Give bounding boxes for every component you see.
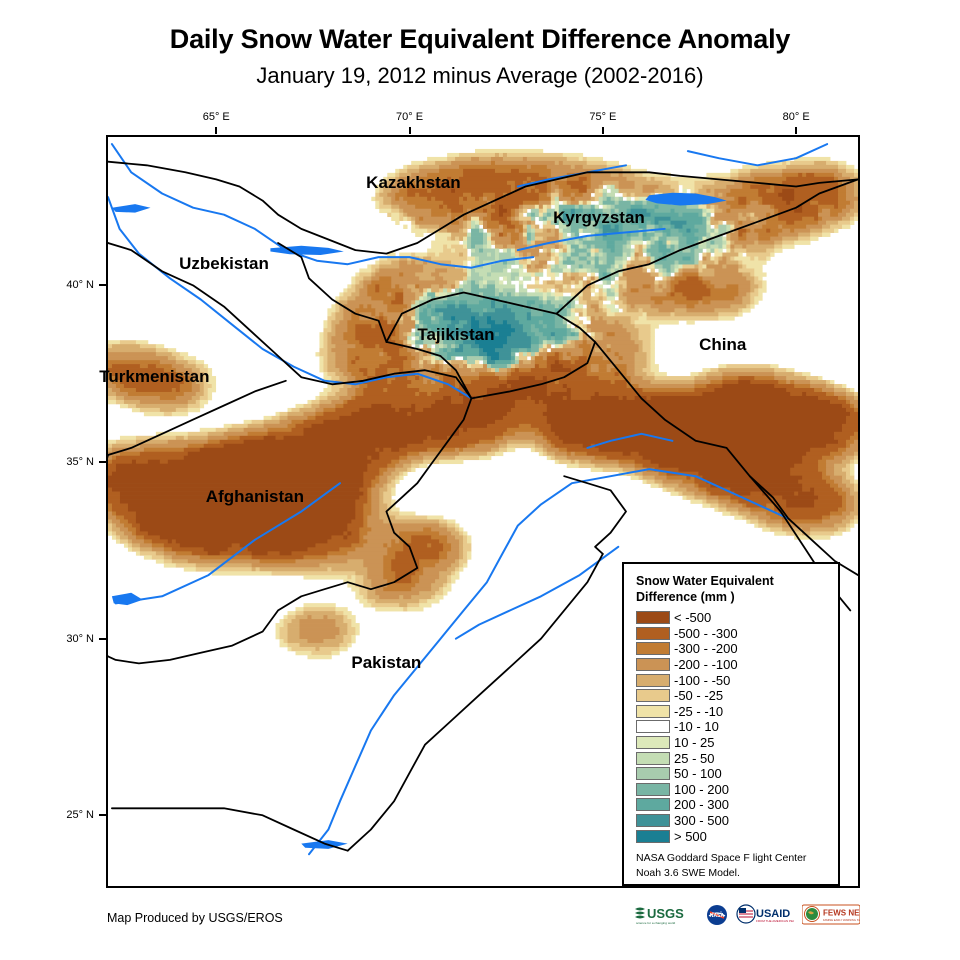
x-axis-label: 80° E [783,111,810,123]
legend-swatch [636,752,670,765]
nasa-logo: NASA [706,904,728,926]
legend-swatch [636,611,670,624]
legend-label: 10 - 25 [674,736,714,749]
legend-label: -100 - -50 [674,674,730,687]
legend-label: < -500 [674,611,711,624]
map-credit: Map Produced by USGS/EROS [107,911,283,925]
legend-label: 50 - 100 [674,767,722,780]
legend-label: 200 - 300 [674,798,729,811]
y-axis-tick [99,638,106,640]
legend-swatch [636,689,670,702]
legend-swatch [636,658,670,671]
legend-label: -500 - -300 [674,627,738,640]
legend-label: -25 - -10 [674,705,723,718]
fewsnet-logo: FEWS NET FAMINE EARLY WARNING SYSTEMS NE… [802,904,860,926]
legend-row: -10 - 10 [636,719,828,735]
legend-swatch [636,783,670,796]
svg-text:FEWS NET: FEWS NET [823,909,860,918]
legend-swatch [636,720,670,733]
x-axis-tick [409,127,411,134]
legend-label: 100 - 200 [674,783,729,796]
legend-row: -200 - -100 [636,657,828,673]
y-axis-tick [99,461,106,463]
y-axis-tick [99,814,106,816]
legend-swatch [636,627,670,640]
legend-row: -25 - -10 [636,704,828,720]
legend-row: 10 - 25 [636,735,828,751]
legend-label: 300 - 500 [674,814,729,827]
legend-label: -10 - 10 [674,720,719,733]
legend-row: -50 - -25 [636,688,828,704]
page-title: Daily Snow Water Equivalent Difference A… [0,24,960,56]
x-axis-label: 75° E [589,111,616,123]
svg-text:FROM THE AMERICAN PEOPLE: FROM THE AMERICAN PEOPLE [756,919,794,923]
svg-text:NASA: NASA [710,913,725,919]
svg-text:USGS: USGS [647,906,684,921]
svg-text:FAMINE EARLY WARNING SYSTEMS N: FAMINE EARLY WARNING SYSTEMS NETWORK [823,918,860,922]
legend-swatch [636,674,670,687]
legend-label: -50 - -25 [674,689,723,702]
legend-row: < -500 [636,610,828,626]
x-axis-tick [215,127,217,134]
x-axis-tick [602,127,604,134]
legend-swatch [636,736,670,749]
title-block: Daily Snow Water Equivalent Difference A… [0,24,960,89]
y-axis-label: 35° N [44,456,94,468]
legend-row: 200 - 300 [636,797,828,813]
legend-title: Snow Water Equivalent Difference (mm ) [636,573,828,605]
legend-entries: < -500-500 - -300-300 - -200-200 - -100-… [636,610,828,844]
legend-row: -500 - -300 [636,626,828,642]
legend-swatch [636,798,670,811]
legend-row: 100 - 200 [636,782,828,798]
legend-row: 50 - 100 [636,766,828,782]
page-subtitle: January 19, 2012 minus Average (2002-201… [0,63,960,89]
y-axis-label: 30° N [44,633,94,645]
legend-swatch [636,705,670,718]
legend-swatch [636,814,670,827]
x-axis-label: 70° E [396,111,423,123]
logo-strip: USGS science for a changing world NASA U… [634,904,860,926]
usaid-logo: USAID FROM THE AMERICAN PEOPLE [736,904,794,926]
x-axis-tick [795,127,797,134]
legend-source-note: NASA Goddard Space F light Center Noah 3… [636,851,828,881]
legend-label: -300 - -200 [674,642,738,655]
usgs-logo: USGS science for a changing world [634,904,698,926]
x-axis-label: 65° E [203,111,230,123]
legend-row: -300 - -200 [636,641,828,657]
legend-row: 300 - 500 [636,813,828,829]
svg-text:science for a changing world: science for a changing world [636,921,675,925]
legend-label: 25 - 50 [674,752,714,765]
legend-swatch [636,830,670,843]
legend-row: > 500 [636,828,828,844]
y-axis-tick [99,284,106,286]
legend-swatch [636,767,670,780]
legend-label: -200 - -100 [674,658,738,671]
legend-swatch [636,642,670,655]
y-axis-label: 40° N [44,279,94,291]
legend-row: 25 - 50 [636,750,828,766]
y-axis-label: 25° N [44,809,94,821]
legend-row: -100 - -50 [636,672,828,688]
map-legend[interactable]: Snow Water Equivalent Difference (mm ) <… [622,562,840,886]
legend-label: > 500 [674,830,707,843]
